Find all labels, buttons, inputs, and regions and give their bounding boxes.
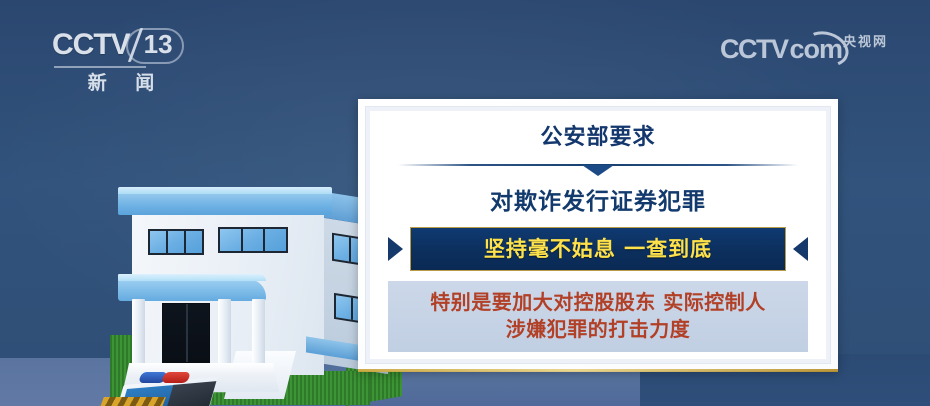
info-panel: 公安部要求 对欺诈发行证券犯罪 坚持毫不姑息 一查到底 特别是要加大对控股股东 …: [358, 99, 838, 371]
arrow-right-icon: [388, 237, 403, 261]
entrance-door: [162, 303, 210, 363]
cctv-com-logo: CCTV com 央视网: [720, 36, 890, 80]
entrance-canopy: [118, 279, 266, 301]
entrance-canopy-highlight: [118, 274, 266, 281]
curb-marking: [100, 397, 166, 406]
cctv13-wordmark: CCTV: [52, 30, 130, 60]
divider-triangle-icon: [582, 165, 614, 176]
cctv-com-wordmark: CCTV: [720, 36, 788, 63]
roof-highlight: [118, 187, 332, 194]
canopy-pillar-right: [252, 299, 265, 371]
info-panel-inner: 公安部要求 对欺诈发行证券犯罪 坚持毫不姑息 一查到底 特别是要加大对控股股东 …: [365, 106, 831, 364]
canopy-pillar-left: [132, 299, 145, 369]
cctv13-logo: CCTV 13 新 闻: [52, 26, 184, 92]
panel-note-line-2: 涉嫌犯罪的打击力度: [398, 316, 798, 342]
panel-note-line-1: 特别是要加大对控股股东 实际控制人: [398, 289, 798, 315]
cctv13-pill-outline: [126, 28, 184, 64]
police-car-windshield: [166, 381, 217, 406]
panel-title: 公安部要求: [388, 125, 808, 151]
panel-note: 特别是要加大对控股股东 实际控制人 涉嫌犯罪的打击力度: [388, 281, 808, 352]
window-upper-center: [218, 227, 288, 253]
canopy-pillar-center: [218, 299, 231, 367]
panel-gold-underline: [358, 369, 838, 372]
cctv-com-chinese-name: 央视网: [843, 31, 888, 50]
police-station-illustration: [110, 175, 400, 406]
highlight-row: 坚持毫不姑息 一查到底: [388, 227, 808, 271]
roof-slab: [118, 191, 332, 215]
highlight-bar: 坚持毫不姑息 一查到底: [410, 227, 786, 271]
cctv13-subtitle: 新 闻: [68, 68, 174, 95]
window-upper-left: [148, 229, 204, 255]
panel-subject-line: 对欺诈发行证券犯罪: [388, 182, 808, 216]
title-divider: [388, 157, 808, 175]
arrow-left-icon: [793, 237, 808, 261]
police-light-bar-red-icon: [161, 372, 191, 383]
